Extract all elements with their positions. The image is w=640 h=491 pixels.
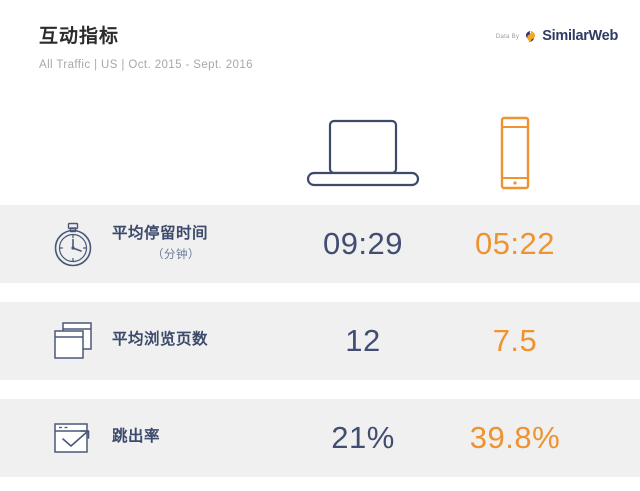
similarweb-swirl-icon — [524, 30, 537, 43]
metric-value-desktop: 12 — [283, 323, 443, 359]
laptop-icon — [303, 116, 423, 190]
stacked-pages-icon — [44, 312, 102, 370]
brand-name-label: SimilarWeb — [542, 28, 618, 44]
stopwatch-icon — [44, 215, 102, 273]
metric-label: 跳出率 — [112, 427, 262, 447]
mobile-phone-icon — [492, 114, 538, 192]
metric-value-mobile: 39.8% — [440, 420, 590, 456]
page-header: 互动指标 All Traffic | US | Oct. 2015 - Sept… — [0, 0, 640, 100]
device-header-row — [0, 100, 640, 205]
table-row: 平均浏览页数 12 7.5 — [0, 302, 640, 380]
table-row: 跳出率 21% 39.8% — [0, 399, 640, 477]
metric-value-mobile: 7.5 — [440, 323, 590, 359]
metric-label-group: 平均浏览页数 — [112, 330, 262, 352]
desktop-column-header — [283, 100, 443, 205]
similarweb-brand: Data By SimilarWeb — [496, 28, 618, 44]
metrics-list: 平均停留时间 （分钟） 09:29 05:22 平均浏览页数 12 7.5 — [0, 205, 640, 477]
metric-sublabel: （分钟） — [112, 246, 240, 264]
metric-label: 平均停留时间 — [112, 224, 262, 244]
mobile-column-header — [455, 100, 575, 205]
metric-value-mobile: 05:22 — [440, 226, 590, 262]
metric-label-group: 跳出率 — [112, 427, 262, 449]
bounce-rate-window-icon — [44, 409, 102, 467]
table-row: 平均停留时间 （分钟） 09:29 05:22 — [0, 205, 640, 283]
brand-prefix-label: Data By — [496, 34, 519, 40]
metric-label: 平均浏览页数 — [112, 330, 262, 350]
metric-value-desktop: 21% — [283, 420, 443, 456]
page-subtitle: All Traffic | US | Oct. 2015 - Sept. 201… — [39, 57, 618, 73]
metric-label-group: 平均停留时间 （分钟） — [112, 224, 262, 264]
metric-value-desktop: 09:29 — [283, 226, 443, 262]
